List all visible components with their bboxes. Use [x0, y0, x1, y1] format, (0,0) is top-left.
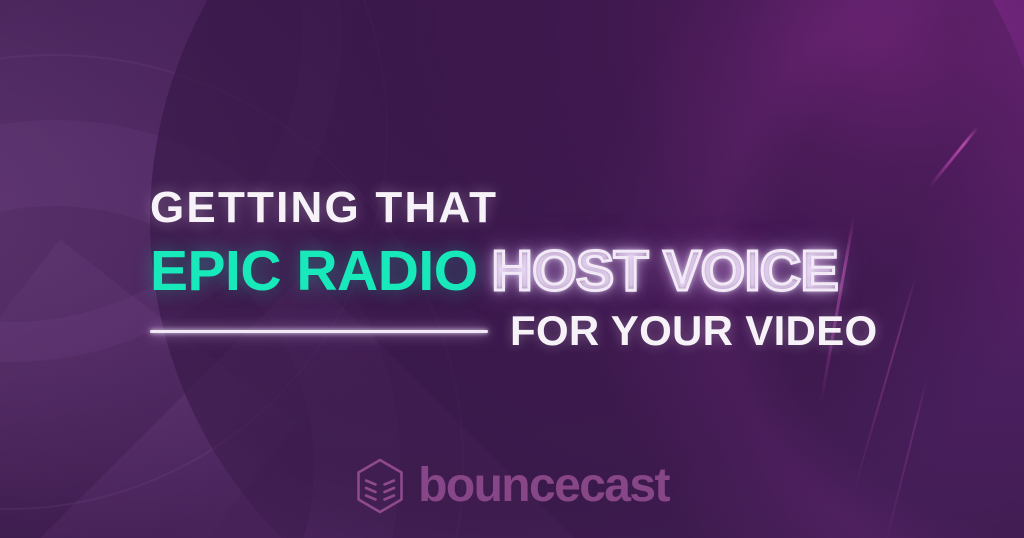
brand-wordmark: bouncecast: [418, 462, 669, 510]
headline-outline-text: HOST VOICE: [492, 239, 839, 303]
headline-accent-text: EPIC RADIO: [150, 239, 478, 303]
headline-line-1: GETTING THAT: [150, 186, 890, 230]
brand-logo: bouncecast: [0, 458, 1024, 514]
headline-line-3-text: FOR YOUR VIDEO: [510, 310, 877, 352]
headline-divider-rule: [150, 330, 488, 333]
hexagon-stacked-lines-icon: [355, 458, 405, 514]
headline-line-2: EPIC RADIOHOST VOICE: [150, 243, 890, 300]
headline-line-3: FOR YOUR VIDEO: [150, 310, 890, 352]
headline-block: GETTING THAT EPIC RADIOHOST VOICE FOR YO…: [150, 186, 890, 352]
blog-header-banner: GETTING THAT EPIC RADIOHOST VOICE FOR YO…: [0, 0, 1024, 538]
